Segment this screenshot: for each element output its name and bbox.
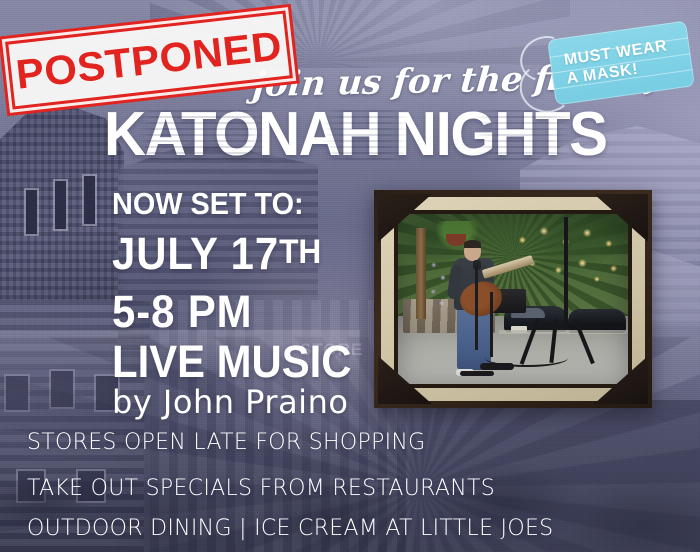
live-music-label: LIVE MUSIC	[112, 336, 352, 388]
event-date: JULY 17TH	[112, 228, 321, 280]
page-title: KATONAH NIGHTS	[104, 104, 630, 166]
detail-line-dining: OUTDOOR DINING | ICE CREAM AT LITTLE JOE…	[27, 518, 553, 540]
detail-line-stores: STORES OPEN LATE FOR SHOPPING	[27, 432, 426, 454]
event-time: 5-8 PM	[112, 286, 252, 338]
event-date-ordinal: TH	[279, 233, 321, 271]
performer-credit: by John Praino	[112, 386, 348, 418]
concert-photo	[398, 214, 628, 384]
event-date-main: JULY 17	[112, 228, 279, 279]
event-poster: STORE	[0, 0, 700, 552]
photo-frame	[374, 190, 652, 408]
photo-vignette	[398, 214, 628, 384]
now-set-to-label: NOW SET TO:	[112, 186, 304, 222]
detail-line-takeout: TAKE OUT SPECIALS FROM RESTAURANTS	[27, 478, 495, 500]
